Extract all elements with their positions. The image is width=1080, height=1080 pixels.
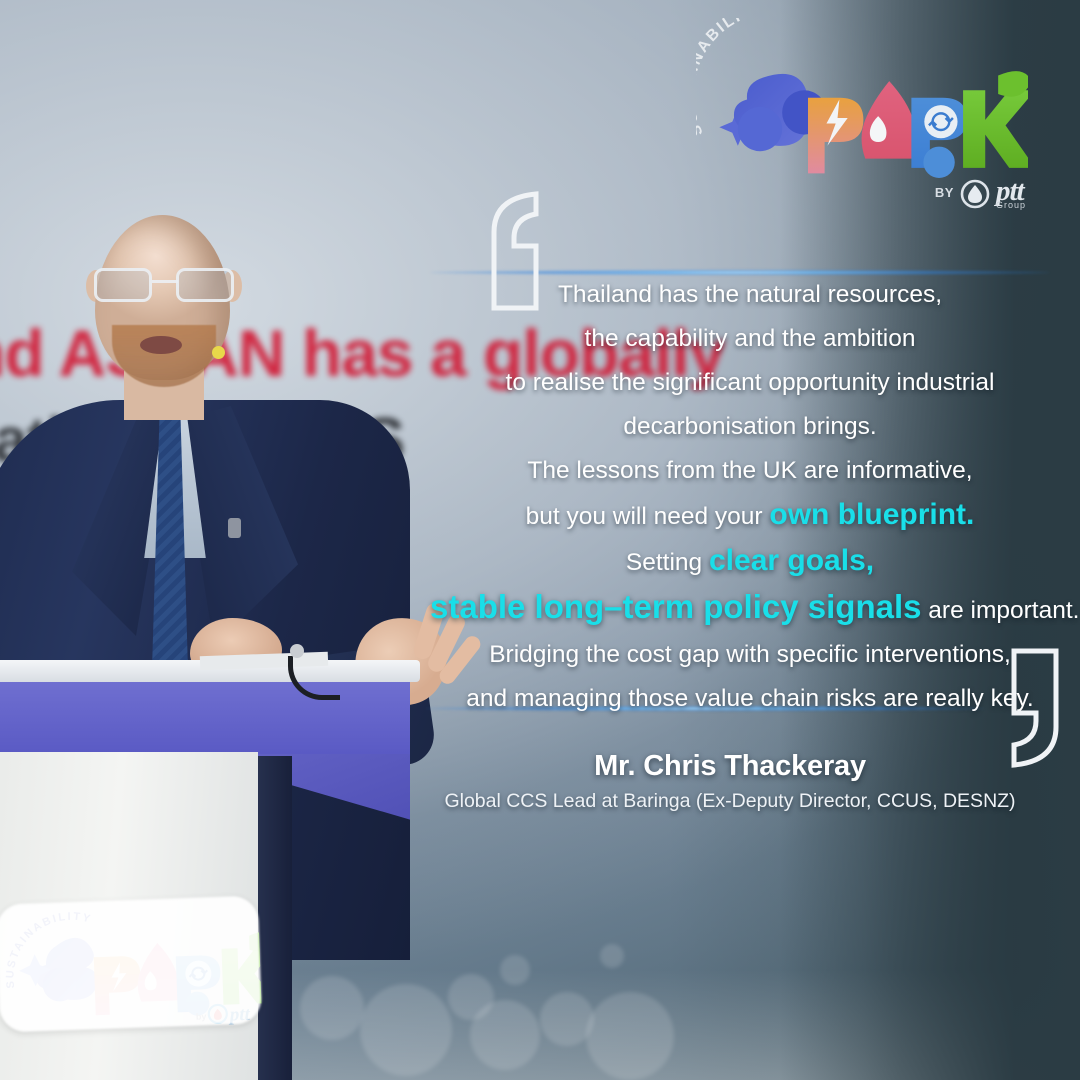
ptt-group-label: Group bbox=[996, 200, 1026, 210]
speaker-name: Mr. Chris Thackeray bbox=[380, 750, 1080, 783]
quote-block: Thailand has the natural resources, the … bbox=[430, 255, 1070, 721]
quote-highlight-clear-goals: clear goals, bbox=[709, 544, 874, 577]
lapel-pin bbox=[228, 518, 241, 538]
quote-line-3: to realise the significant opportunity i… bbox=[430, 361, 1070, 405]
bokeh-light bbox=[500, 955, 530, 985]
quote-line-9: Bridging the cost gap with specific inte… bbox=[430, 633, 1070, 677]
quote-line-10: and managing those value chain risks are… bbox=[430, 677, 1070, 721]
quote-highlight-policy-signals: stable long–term policy signals bbox=[430, 588, 921, 625]
bokeh-light bbox=[600, 944, 624, 968]
quote-line-2: the capability and the ambition bbox=[430, 317, 1070, 361]
quote-line-1: Thailand has the natural resources, bbox=[430, 273, 1070, 317]
speaker-role: Global CCS Lead at Baringa (Ex-Deputy Di… bbox=[380, 790, 1080, 813]
bokeh-light bbox=[470, 1000, 540, 1070]
bokeh-light bbox=[586, 992, 674, 1080]
letter-a bbox=[862, 81, 916, 159]
spark-wordmark bbox=[708, 70, 1028, 190]
attribution: Mr. Chris Thackeray Global CCS Lead at B… bbox=[380, 750, 1080, 813]
ptt-flame-icon bbox=[960, 177, 990, 209]
logo-by-ptt: BY ptt Group bbox=[935, 175, 1026, 210]
eyeglasses-icon bbox=[92, 268, 238, 302]
podium: SUSTAINABILITY bbox=[0, 660, 430, 1080]
quote-line-5: The lessons from the UK are informative, bbox=[430, 449, 1070, 493]
quote-line-7: Setting clear goals, bbox=[430, 539, 1070, 585]
quote-card: nd ASEAN has a globally sation and CCS bbox=[0, 0, 1080, 1080]
quote-line-6: but you will need your own blueprint. bbox=[430, 493, 1070, 539]
headset-microphone-icon bbox=[212, 346, 225, 359]
quote-line-8: stable long–term policy signals are impo… bbox=[430, 585, 1070, 633]
podium-spark-badge: SUSTAINABILITY bbox=[0, 895, 262, 1032]
quote-lines: Thailand has the natural resources, the … bbox=[430, 255, 1070, 721]
sustainability-spark-logo: SUSTAINABILITY bbox=[688, 18, 1028, 218]
letter-k bbox=[963, 90, 1028, 168]
logo-by-label: BY bbox=[935, 185, 954, 200]
quote-highlight-own-blueprint: own blueprint. bbox=[769, 498, 974, 531]
quote-line-4: decarbonisation brings. bbox=[430, 405, 1070, 449]
